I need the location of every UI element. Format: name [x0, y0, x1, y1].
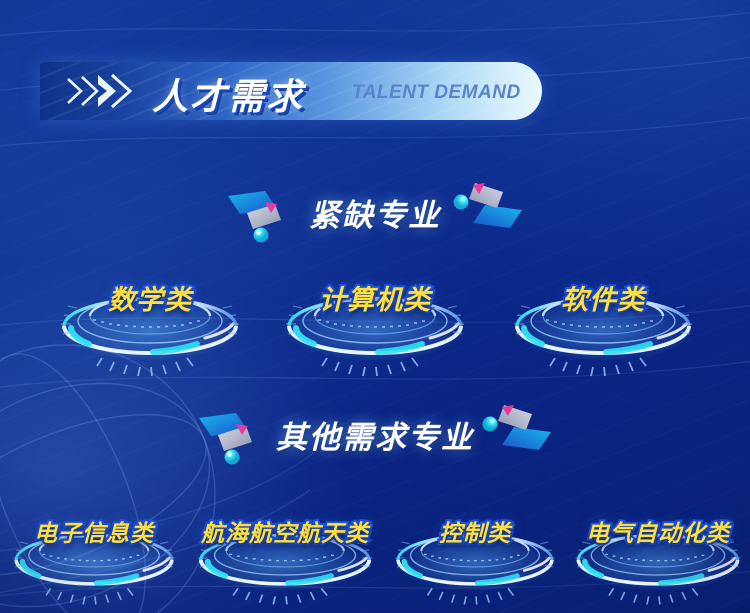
banner-title-en: TALENT DEMAND — [352, 82, 521, 104]
section-heading-0: 紧缺专业 — [225, 182, 525, 252]
parallelogram-sphere-decor-right-1 — [480, 404, 554, 466]
demand-item-label: 航海航空航天类 — [192, 514, 378, 548]
demand-item-label: 软件类 — [508, 278, 698, 317]
demand-item-3[interactable]: 电子信息类 — [8, 508, 180, 608]
demand-item-label: 电子信息类 — [8, 514, 180, 548]
demand-item-2[interactable]: 软件类 — [508, 268, 698, 380]
banner-title-cn: 人才需求 — [152, 68, 304, 120]
demand-item-0[interactable]: 数学类 — [55, 268, 245, 380]
demand-item-label: 数学类 — [55, 278, 245, 317]
double-chevron-icon — [66, 74, 162, 108]
demand-item-label: 电气自动化类 — [570, 514, 746, 548]
demand-item-label: 计算机类 — [280, 278, 470, 317]
demand-item-label: 控制类 — [390, 514, 560, 548]
poster-canvas: 人才需求 TALENT DEMAND 紧缺专业 — [0, 0, 750, 613]
demand-item-6[interactable]: 电气自动化类 — [570, 508, 746, 608]
demand-item-5[interactable]: 控制类 — [390, 508, 560, 608]
parallelogram-sphere-decor-right-0 — [451, 182, 525, 244]
demand-item-1[interactable]: 计算机类 — [280, 268, 470, 380]
page-title-banner: 人才需求 TALENT DEMAND — [40, 62, 542, 120]
demand-item-4[interactable]: 航海航空航天类 — [192, 508, 378, 608]
section-heading-1: 其他需求专业 — [196, 404, 554, 474]
